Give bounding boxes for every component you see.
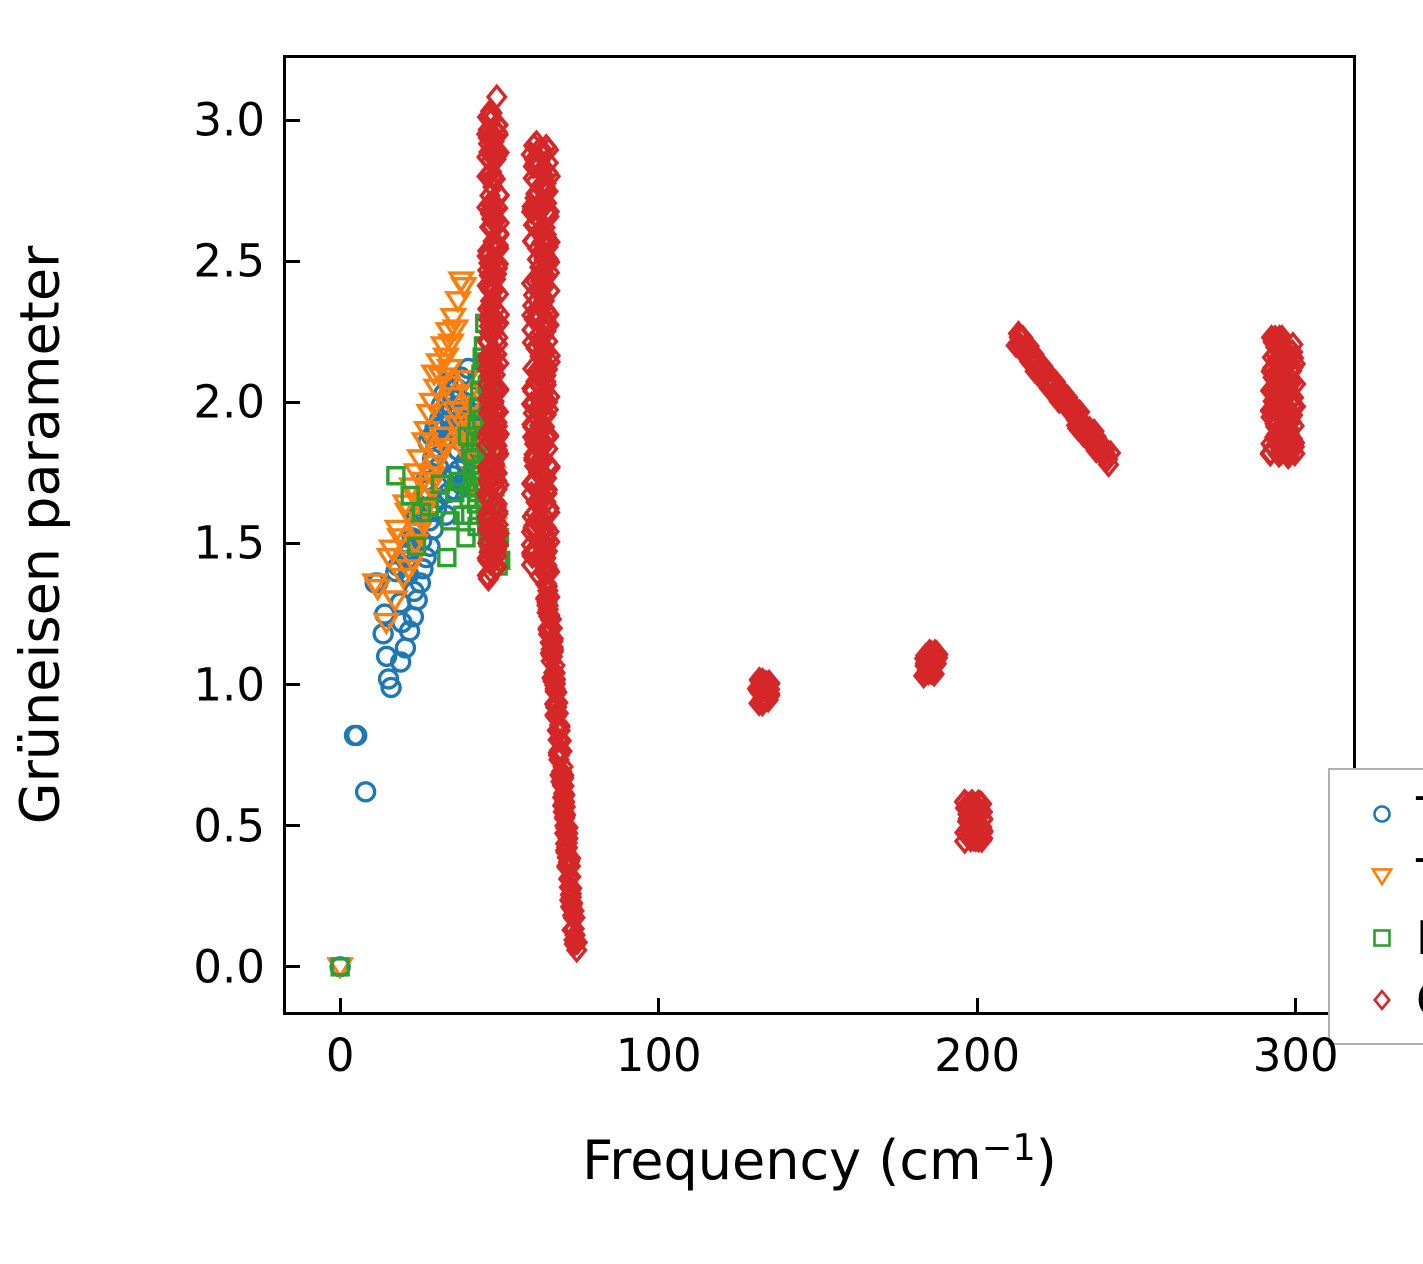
scatter-layer <box>286 58 1353 1012</box>
y-tick-2.5 <box>286 260 300 263</box>
square-icon <box>1356 923 1408 953</box>
plot-area <box>286 58 1353 1012</box>
figure-canvas: Grüneisen parameter 0.00.51.01.52.02.53.… <box>0 0 1423 1264</box>
x-axis-label-tail: ) <box>1036 1129 1057 1192</box>
legend-label: LA <box>1416 915 1423 961</box>
legend-label: TA(2) <box>1416 853 1423 899</box>
x-tick-200 <box>976 998 979 1012</box>
x-tick-label-200: 200 <box>934 1033 1020 1078</box>
y-tick-1.0 <box>286 683 300 686</box>
x-axis-label-exponent: −1 <box>982 1126 1036 1169</box>
x-tick-label-300: 300 <box>1253 1033 1339 1078</box>
y-tick-label-1.0: 1.0 <box>120 662 265 707</box>
x-axis-label-base: Frequency (cm <box>582 1129 982 1192</box>
diamond-icon <box>1356 985 1408 1015</box>
y-tick-label-2.0: 2.0 <box>120 380 265 425</box>
legend-box[interactable]: TA(1)TA(2)LAOptical <box>1328 768 1423 1045</box>
y-tick-label-1.5: 1.5 <box>120 521 265 566</box>
legend-label: TA(1) <box>1416 791 1423 837</box>
plot-axes: TA(1)TA(2)LAOptical <box>283 55 1356 1015</box>
x-axis-label: Frequency (cm−1) <box>283 1128 1356 1190</box>
legend-item-ta2[interactable]: TA(2) <box>1330 845 1423 907</box>
y-tick-label-2.5: 2.5 <box>120 239 265 284</box>
y-tick-1.5 <box>286 542 300 545</box>
y-axis-label-container: Grüneisen parameter <box>0 55 80 1015</box>
legend-item-la[interactable]: LA <box>1330 907 1423 969</box>
x-tick-label-0: 0 <box>326 1033 355 1078</box>
y-tick-0.5 <box>286 824 300 827</box>
x-tick-label-100: 100 <box>616 1033 702 1078</box>
x-tick-100 <box>657 998 660 1012</box>
x-tick-300 <box>1294 998 1297 1012</box>
y-tick-label-0.0: 0.0 <box>120 944 265 989</box>
y-axis-label: Grüneisen parameter <box>10 246 69 825</box>
y-tick-3.0 <box>286 119 300 122</box>
y-tick-label-3.0: 3.0 <box>120 98 265 143</box>
y-tick-2.0 <box>286 401 300 404</box>
y-tick-0.0 <box>286 965 300 968</box>
legend-item-ta1[interactable]: TA(1) <box>1330 783 1423 845</box>
legend-item-optical[interactable]: Optical <box>1330 969 1423 1031</box>
y-tick-label-0.5: 0.5 <box>120 803 265 848</box>
triangle-down-icon <box>1356 861 1408 891</box>
x-tick-0 <box>339 998 342 1012</box>
series-optical <box>478 86 1304 960</box>
legend-label: Optical <box>1416 977 1423 1023</box>
circle-icon <box>1356 799 1408 829</box>
